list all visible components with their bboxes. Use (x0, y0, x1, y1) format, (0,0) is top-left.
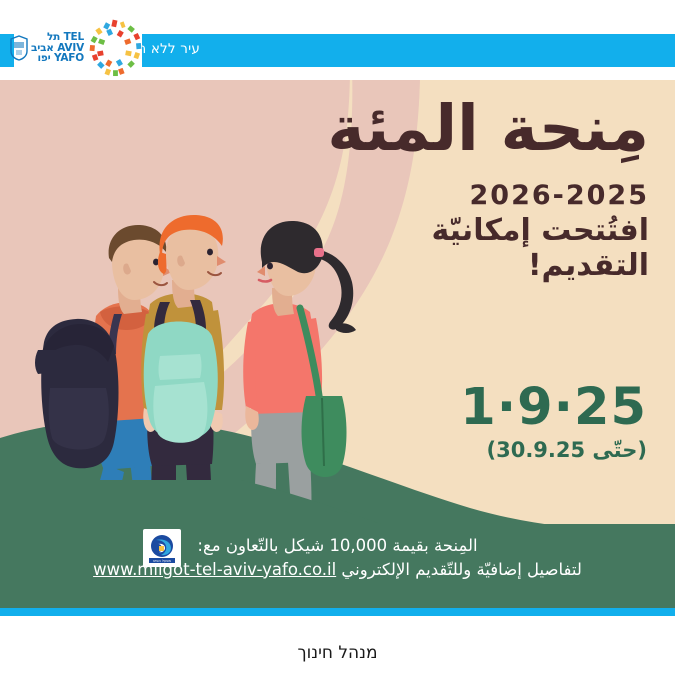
opening-date: 1·9·25 (327, 382, 647, 433)
logo-line-3: YAFO יפו (31, 53, 84, 64)
academic-years: 2026-2025 (249, 180, 649, 211)
application-url-link[interactable]: www.milgot-tel-aviv-yafo.co.il (93, 560, 336, 579)
grant-amount-line: المِنحة بقيمة 10,000 شيكل بالتّعاون مع: (0, 534, 675, 558)
poster-canvas: مِنحة المئة 2026-2025 افتُتحت إمكانيّة ا… (0, 0, 675, 675)
svg-text:מפעל הפיס: מפעל הפיס (153, 559, 171, 563)
top-header: עיר ללא הפסקה (0, 0, 675, 80)
page-title: مِنحة المئة (249, 96, 649, 162)
tel-aviv-yafo-logo[interactable]: TEL תל AVIV אביב YAFO יפו (14, 16, 142, 80)
details-label: لتفاصيل إضافيّة وللتّقديم الإلكتروني (341, 560, 581, 579)
closing-date: (حتّى 30.9.25) (327, 439, 647, 462)
cyan-divider (0, 608, 675, 616)
logo-wordmark: TEL תל AVIV אביב YAFO יפו (31, 32, 84, 64)
municipal-crest-icon (9, 35, 29, 61)
pais-swirl-icon: מפעל הפיס (146, 532, 178, 564)
confetti-circle-icon (86, 19, 144, 77)
headline-block: مِنحة المئة 2026-2025 افتُتحت إمكانيّة ا… (249, 96, 649, 283)
subtitle-line-1: افتُتحت إمكانيّة (249, 213, 649, 248)
mifal-hapais-logo: מפעל הפיס (143, 529, 181, 567)
details-line: لتفاصيل إضافيّة وللتّقديم الإلكتروني www… (0, 558, 675, 582)
subtitle-line-2: التقديم! (249, 248, 649, 283)
footer-text-block: المِنحة بقيمة 10,000 شيكل بالتّعاون مع: … (0, 534, 675, 582)
department-name: מנהל חינוך (298, 643, 378, 663)
department-caption: מנהל חינוך (0, 630, 675, 675)
date-block: 1·9·25 (حتّى 30.9.25) (327, 382, 647, 462)
